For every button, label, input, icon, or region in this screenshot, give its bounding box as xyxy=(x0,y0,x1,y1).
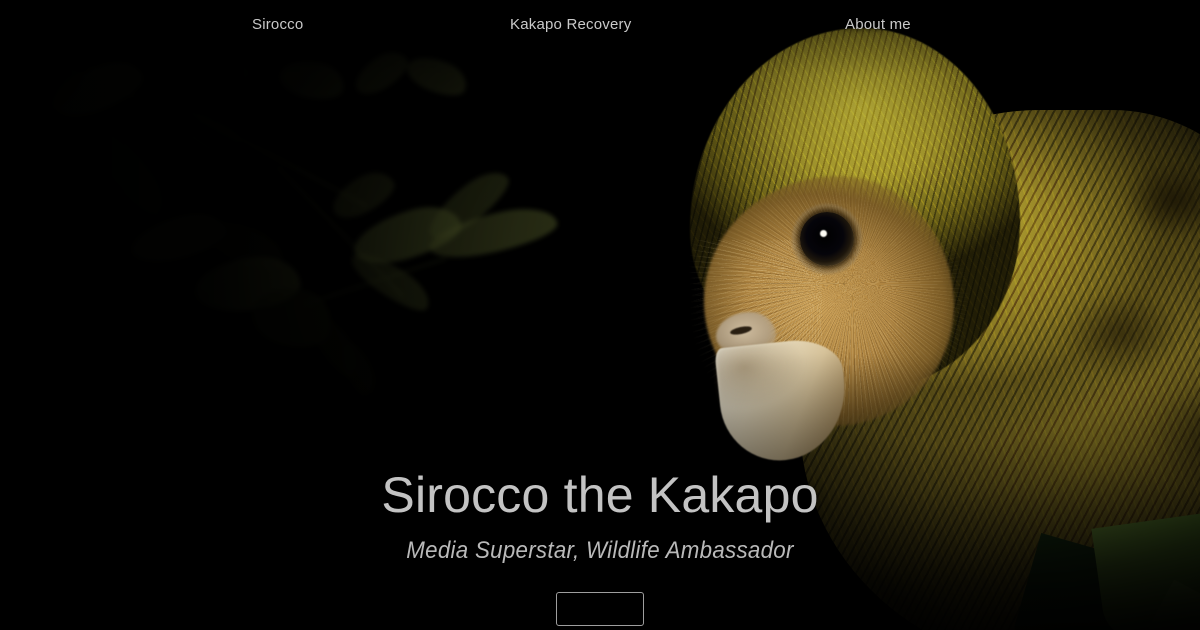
hero-page: Sirocco Kakapo Recovery About me Sirocco… xyxy=(0,0,1200,630)
nav-link-kakapo-recovery[interactable]: Kakapo Recovery xyxy=(510,16,631,34)
eye-catchlight xyxy=(820,230,827,237)
foliage-cluster xyxy=(0,0,600,460)
kakapo-eye xyxy=(800,212,854,266)
page-title: Sirocco the Kakapo xyxy=(0,466,1200,524)
primary-navigation: Sirocco Kakapo Recovery About me xyxy=(0,0,1200,50)
hero-tagline: Media Superstar, Wildlife Ambassador xyxy=(42,536,1158,566)
nav-link-sirocco[interactable]: Sirocco xyxy=(252,16,303,34)
hero-copy-block: Sirocco the Kakapo Media Superstar, Wild… xyxy=(0,466,1200,626)
hero-cta-button[interactable] xyxy=(556,592,644,626)
hero-cta-container xyxy=(0,592,1200,626)
nav-link-about-me[interactable]: About me xyxy=(845,16,911,34)
